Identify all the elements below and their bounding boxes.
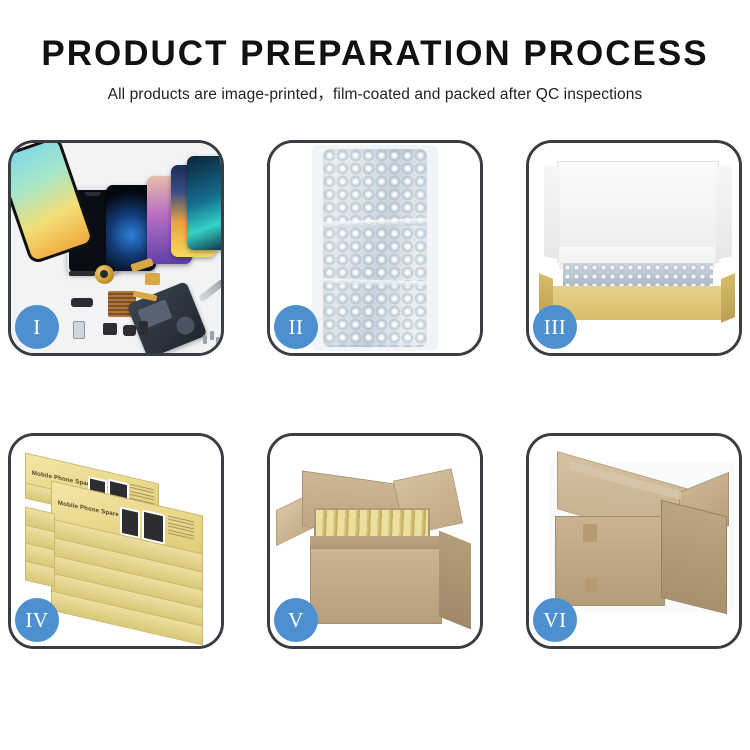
- step-badge-6: VI: [533, 598, 577, 642]
- step-badge-4: IV: [15, 598, 59, 642]
- vibrator-part: [123, 325, 136, 336]
- steps-grid: I II III: [8, 140, 742, 692]
- flex-cable-2: [145, 273, 160, 285]
- step-badge-2: II: [274, 305, 318, 349]
- step-badge-1: I: [15, 305, 59, 349]
- inner-box-base: [551, 286, 723, 320]
- sealed-carton-side: [661, 500, 727, 614]
- speaker-part: [69, 271, 95, 276]
- copper-coil-part: [95, 265, 114, 284]
- step-panel-3: III: [526, 140, 742, 356]
- screw-3: [216, 337, 220, 346]
- step-panel-6: VI: [526, 433, 742, 649]
- screw-1: [203, 335, 207, 344]
- sealed-carton-front: [555, 516, 665, 606]
- step-panel-4: Mobile Phone Spare Parts Mobile Phone Sp…: [8, 433, 224, 649]
- phone-screen-teal: [187, 156, 221, 250]
- carton-label-tab-2: [585, 578, 597, 592]
- product-preparation-infographic: PRODUCT PREPARATION PROCESS All products…: [0, 0, 750, 750]
- bubble-wrap-sleeve: [323, 149, 427, 347]
- step-panel-1: I: [8, 140, 224, 356]
- camera-part: [103, 323, 117, 335]
- screw-2: [210, 331, 214, 340]
- retail-box-spec-lines-2: [168, 515, 194, 541]
- connector-part: [71, 298, 93, 307]
- step-badge-3: III: [533, 305, 577, 349]
- step-badge-5: V: [274, 598, 318, 642]
- step-panel-5: V: [267, 433, 483, 649]
- sim-tray-part: [73, 321, 85, 339]
- battery-part: [139, 321, 148, 335]
- carton-label-tab-1: [583, 524, 597, 542]
- inner-box-bubble-contents: [563, 263, 713, 288]
- step-panel-2: II: [267, 140, 483, 356]
- carton-body: [310, 548, 442, 624]
- page-subtitle: All products are image-printed，film-coat…: [0, 82, 750, 104]
- tweezers-tool: [198, 279, 221, 303]
- page-title: PRODUCT PREPARATION PROCESS: [0, 36, 750, 73]
- header: PRODUCT PREPARATION PROCESS All products…: [0, 0, 750, 104]
